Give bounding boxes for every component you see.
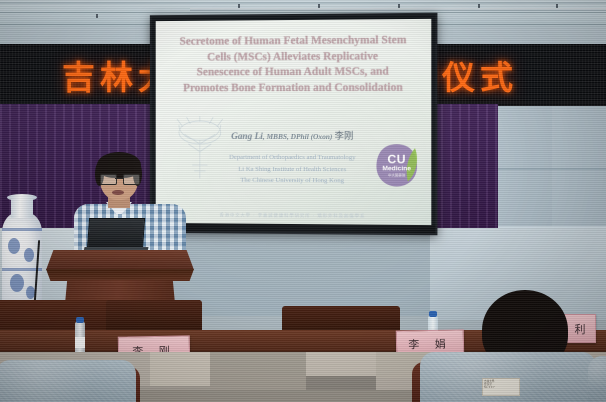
seat-tag-line-3: No. 0 0 7 bbox=[484, 386, 518, 389]
slide-title-line-2: Cells (MSCs) Alleviates Replicative bbox=[162, 49, 426, 66]
wall-trim bbox=[498, 168, 606, 170]
floor-tile bbox=[150, 352, 210, 386]
slide-title-line-1: Secretome of Human Fetal Mesenchymal Ste… bbox=[162, 33, 426, 50]
eyeglasses-icon bbox=[100, 174, 138, 183]
eyeglass-bridge bbox=[115, 178, 123, 179]
vase-decoration bbox=[8, 238, 20, 254]
projection-screen-frame: Secretome of Human Fetal Mesenchymal Ste… bbox=[150, 13, 438, 236]
eyeglass-lens bbox=[100, 174, 117, 185]
eyeglass-lens bbox=[123, 174, 140, 185]
podium-top bbox=[46, 250, 194, 270]
laptop-screen bbox=[87, 218, 145, 250]
vase-decoration bbox=[24, 248, 34, 262]
bottle-cap bbox=[429, 311, 437, 317]
name-placard-right: 利 bbox=[564, 314, 596, 343]
slide-title-line-4: Promotes Bone Formation and Consolidatio… bbox=[162, 80, 426, 96]
projection-screen: Secretome of Human Fetal Mesenchymal Ste… bbox=[156, 19, 432, 225]
slide-title-line-3: Senescence of Human Adult MSCs, and bbox=[162, 64, 426, 81]
track-light bbox=[238, 4, 240, 8]
table-chair-back bbox=[106, 300, 202, 334]
podium-lip bbox=[46, 269, 194, 281]
cu-medicine-logo-icon bbox=[374, 142, 419, 189]
track-light bbox=[318, 4, 320, 8]
bottle-cap bbox=[76, 317, 84, 323]
track-light bbox=[398, 4, 400, 8]
track-light bbox=[478, 4, 480, 8]
track-light bbox=[96, 14, 98, 18]
screen-bottom-bar bbox=[152, 223, 436, 233]
slide-title: Secretome of Human Fetal Mesenchymal Ste… bbox=[162, 33, 426, 96]
vase-rim bbox=[7, 194, 37, 201]
vase-band bbox=[2, 228, 42, 231]
slide-presenter-line: Gang Li, MBBS, DPhil (Oxon) 李刚 bbox=[162, 128, 426, 142]
ceiling-seam bbox=[0, 2, 606, 4]
track-light bbox=[556, 4, 558, 8]
curtain-right bbox=[432, 104, 498, 228]
lecture-hall-photograph: 吉林大 聘仪式 Secretome of bbox=[0, 0, 606, 402]
presenter-name-cjk: 李刚 bbox=[335, 131, 354, 142]
audience-chair bbox=[0, 360, 136, 402]
speaker-mouth bbox=[112, 190, 124, 195]
ceiling-seam bbox=[0, 12, 606, 13]
presenter-degrees: , MBBS, DPhil (Oxon) bbox=[263, 132, 333, 141]
seat-number-tag: 吉林大學 会议室 No. 0 0 7 bbox=[482, 378, 520, 396]
presenter-name: Gang Li bbox=[231, 132, 263, 142]
bottle-label bbox=[75, 337, 85, 348]
ceiling-track-rail bbox=[190, 8, 606, 11]
audience-chair bbox=[588, 356, 606, 402]
floor-tile bbox=[306, 352, 376, 376]
vase-decoration bbox=[10, 274, 24, 292]
slide-footer-text: 香港中文大學 · 李嘉誠健康科學研究所 · 矯形外科及創傷學系 bbox=[156, 212, 432, 220]
